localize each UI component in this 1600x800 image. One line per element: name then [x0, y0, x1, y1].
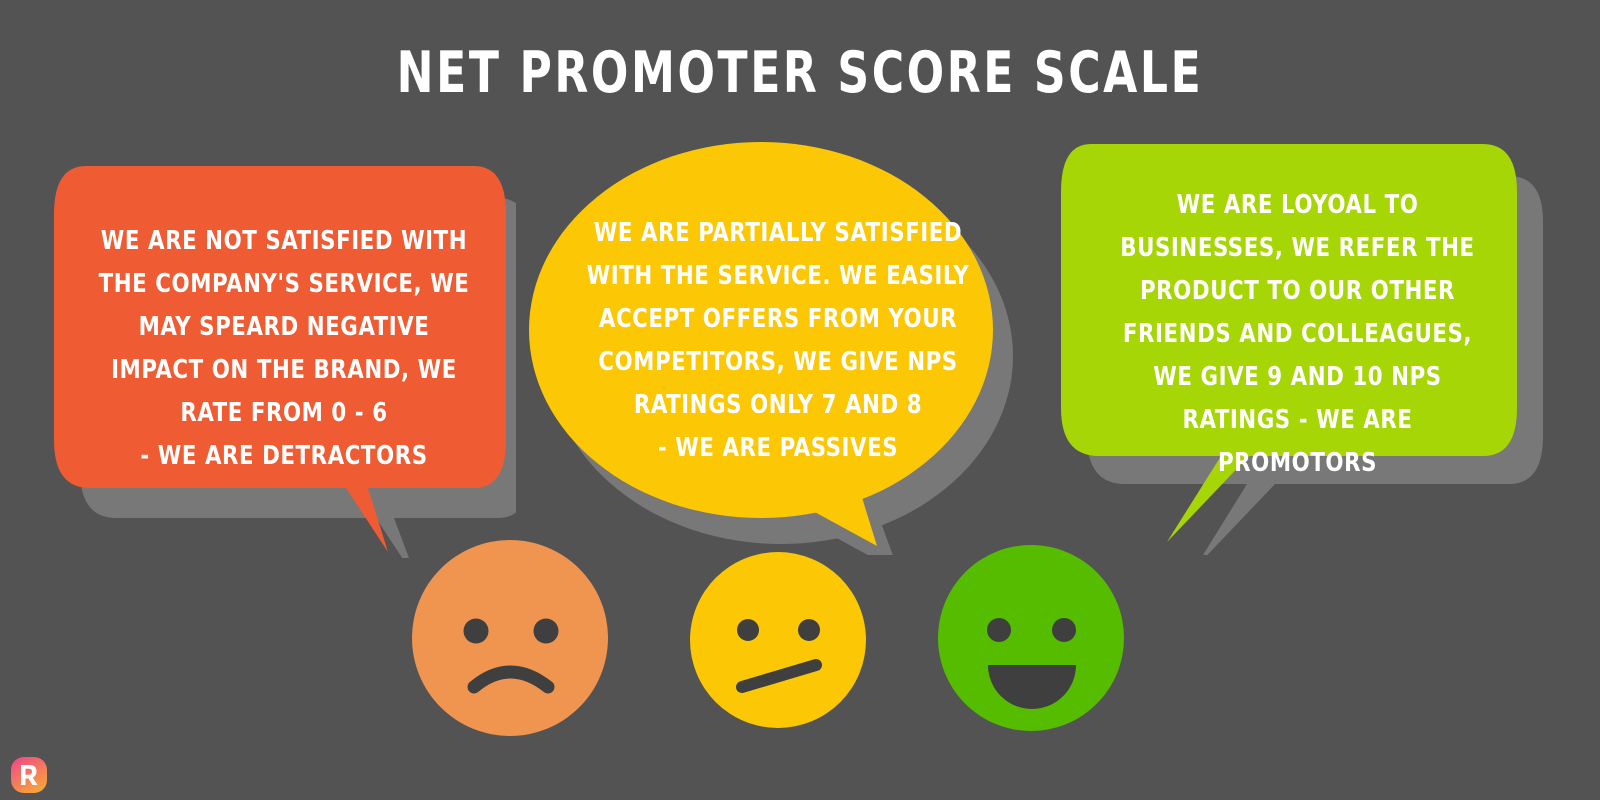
infographic-canvas: NET PROMOTER SCORE SCALE WE ARE NOT SATI…: [0, 0, 1600, 800]
bubble-passives: WE ARE PARTIALLY SATISFIED WITH THE SERV…: [525, 140, 1035, 555]
page-title: NET PROMOTER SCORE SCALE: [112, 40, 1488, 106]
brand-logo[interactable]: [10, 756, 48, 794]
bubble-promoters-text: WE ARE LOYOAL TO BUSINESSES, WE REFER TH…: [1100, 184, 1495, 485]
brand-logo-icon: [10, 756, 48, 794]
bubble-detractors-text: WE ARE NOT SATISFIED WITH THE COMPANY'S …: [89, 220, 480, 478]
sad-face-icon: [412, 540, 608, 736]
neutral-face-icon: [690, 552, 866, 728]
bubble-passives-text: WE ARE PARTIALLY SATISFIED WITH THE SERV…: [578, 212, 978, 470]
bubble-promoters: WE ARE LOYOAL TO BUSINESSES, WE REFER TH…: [1055, 130, 1545, 555]
happy-face-icon: [938, 545, 1124, 731]
bubble-detractors: WE ARE NOT SATISFIED WITH THE COMPANY'S …: [46, 148, 516, 558]
